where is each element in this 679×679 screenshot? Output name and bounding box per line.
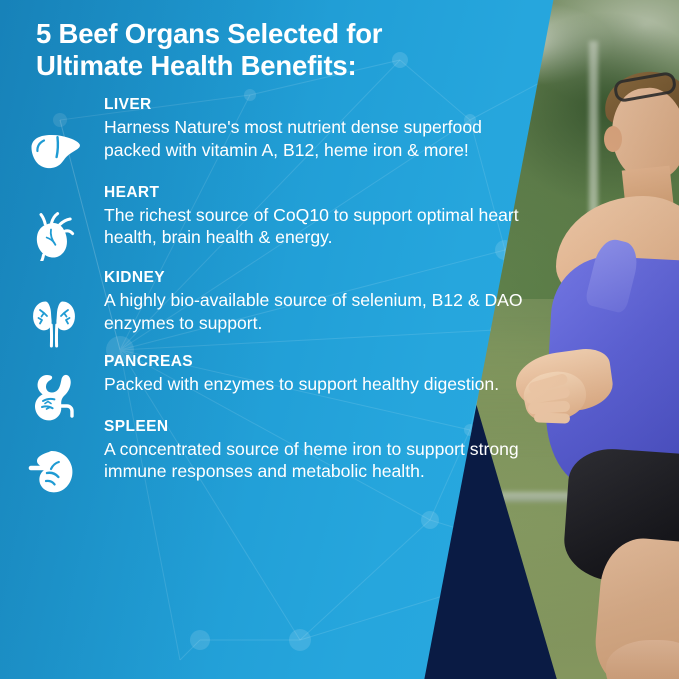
list-item-liver: LIVER Harness Nature's most nutrient den… [0,96,560,162]
organ-name: LIVER [104,96,560,113]
spleen-icon [26,444,82,500]
kidney-icon [26,295,82,351]
organ-description: A highly bio-available source of seleniu… [104,289,529,335]
heart-icon [26,208,82,264]
list-item-kidney: KIDNEY A highly bio-available source of … [0,269,560,335]
organ-name: KIDNEY [104,269,560,286]
page-title-line2: Ultimate Health Benefits: [36,50,506,82]
page-title: 5 Beef Organs Selected for Ultimate Heal… [36,18,506,83]
organ-name: PANCREAS [104,353,560,370]
page-title-line1: 5 Beef Organs Selected for [36,18,382,49]
organ-description: The richest source of CoQ10 to support o… [104,204,529,250]
list-item-pancreas: PANCREAS Packed with enzymes to support … [0,353,560,396]
liver-icon [26,124,82,180]
organ-name: HEART [104,184,560,201]
list-item-heart: HEART The richest source of CoQ10 to sup… [0,184,560,250]
organ-description: Harness Nature's most nutrient dense sup… [104,116,529,162]
list-item-spleen: SPLEEN A concentrated source of heme iro… [0,418,560,484]
content-column: 5 Beef Organs Selected for Ultimate Heal… [0,0,560,679]
organ-name: SPLEEN [104,418,560,435]
organ-list: LIVER Harness Nature's most nutrient den… [0,96,560,483]
organ-description: A concentrated source of heme iron to su… [104,438,529,484]
promo-infographic: 5 Beef Organs Selected for Ultimate Heal… [0,0,679,679]
organ-description: Packed with enzymes to support healthy d… [104,373,529,396]
